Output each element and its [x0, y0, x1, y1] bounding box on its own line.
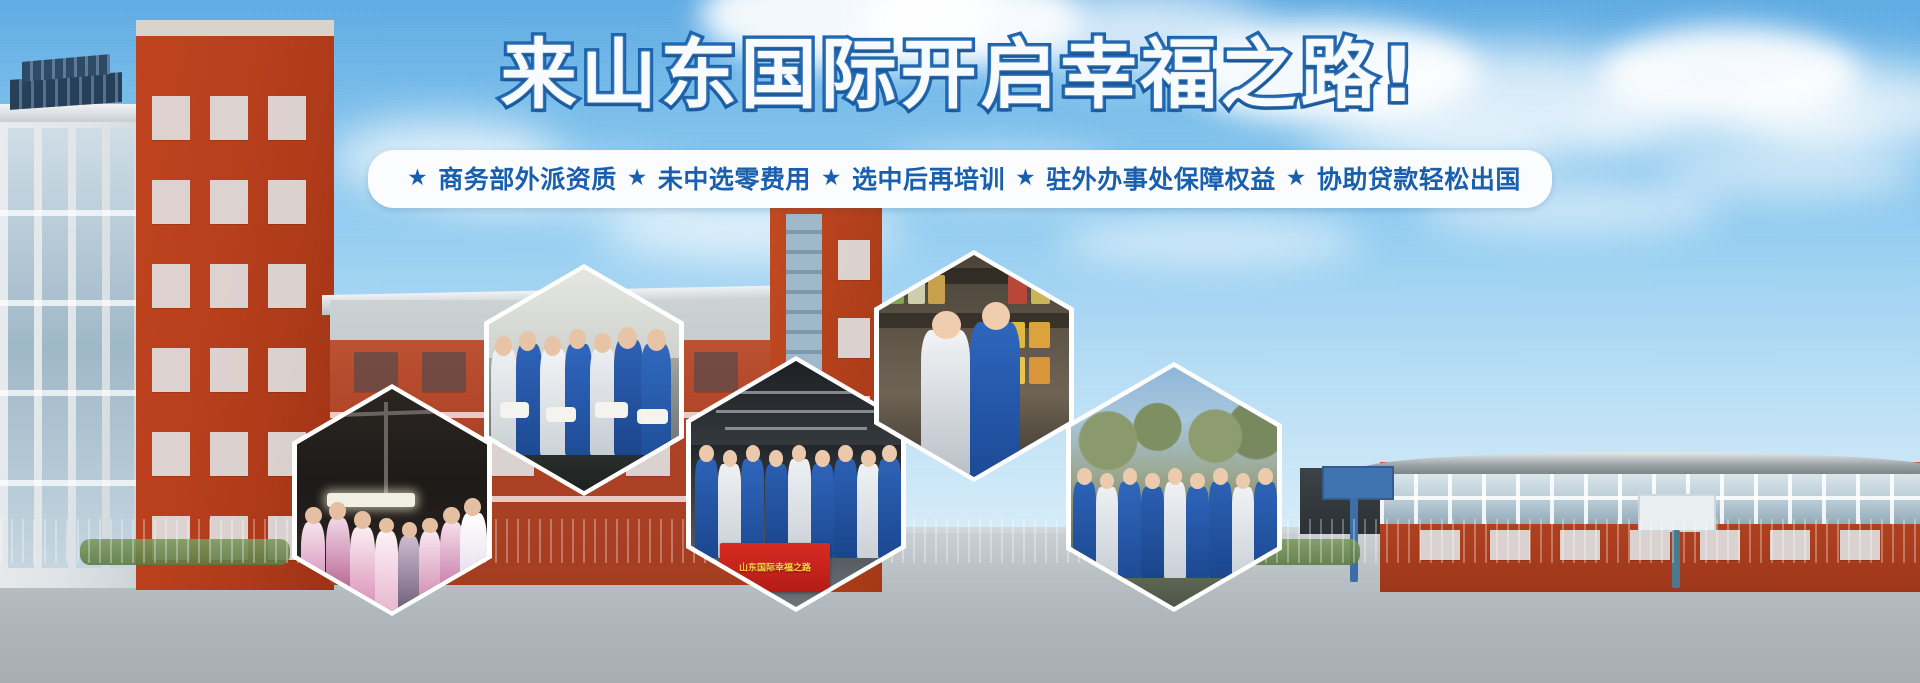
star-icon-3: ★	[1006, 165, 1045, 191]
photo-outdoor-group	[1071, 367, 1277, 607]
photo-group-red-banner: 山东国际幸福之路	[691, 361, 901, 607]
hex-photo-inner	[879, 255, 1069, 477]
hex-photo-outdoor-group[interactable]	[1066, 362, 1282, 612]
feature-item-1: 未中选零费用	[657, 160, 812, 196]
hex-photo-inner	[297, 389, 487, 611]
hex-photo-group-red-banner[interactable]: 山东国际幸福之路	[686, 356, 906, 612]
feature-item-0: 商务部外派资质	[437, 160, 618, 196]
hex-photo-collage: 山东国际幸福之路	[0, 0, 1920, 683]
feature-item-2: 选中后再培训	[851, 160, 1006, 196]
feature-pill: ★ 商务部外派资质 ★ 未中选零费用 ★ 选中后再培训 ★ 驻外办事处保障权益 …	[368, 150, 1552, 208]
feature-item-4: 协助贷款轻松出国	[1316, 160, 1522, 196]
star-icon-1: ★	[618, 165, 657, 191]
subtitle-container: ★ 商务部外派资质 ★ 未中选零费用 ★ 选中后再培训 ★ 驻外办事处保障权益 …	[0, 150, 1920, 208]
star-icon-2: ★	[812, 165, 851, 191]
star-icon-4: ★	[1277, 165, 1316, 191]
hex-photo-yukata-performance[interactable]	[292, 384, 492, 616]
banner-caption: 山东国际幸福之路	[739, 560, 811, 573]
hex-photo-inner	[489, 269, 679, 491]
feature-item-3: 驻外办事处保障权益	[1045, 160, 1277, 196]
hex-photo-inner: 山东国际幸福之路	[691, 361, 901, 607]
star-icon-0: ★	[398, 165, 437, 191]
photo-food-preparation	[489, 269, 679, 491]
hex-photo-inner	[1071, 367, 1277, 607]
promo-banner: 来山东国际开启幸福之路! ★ 商务部外派资质 ★ 未中选零费用 ★ 选中后再培训…	[0, 0, 1920, 683]
feature-list: ★ 商务部外派资质 ★ 未中选零费用 ★ 选中后再培训 ★ 驻外办事处保障权益 …	[398, 160, 1522, 196]
hex-photo-food-preparation[interactable]	[484, 264, 684, 496]
red-banner: 山东国际幸福之路	[720, 543, 829, 592]
photo-yukata-performance	[297, 389, 487, 611]
photo-students-in-shop	[879, 255, 1069, 477]
